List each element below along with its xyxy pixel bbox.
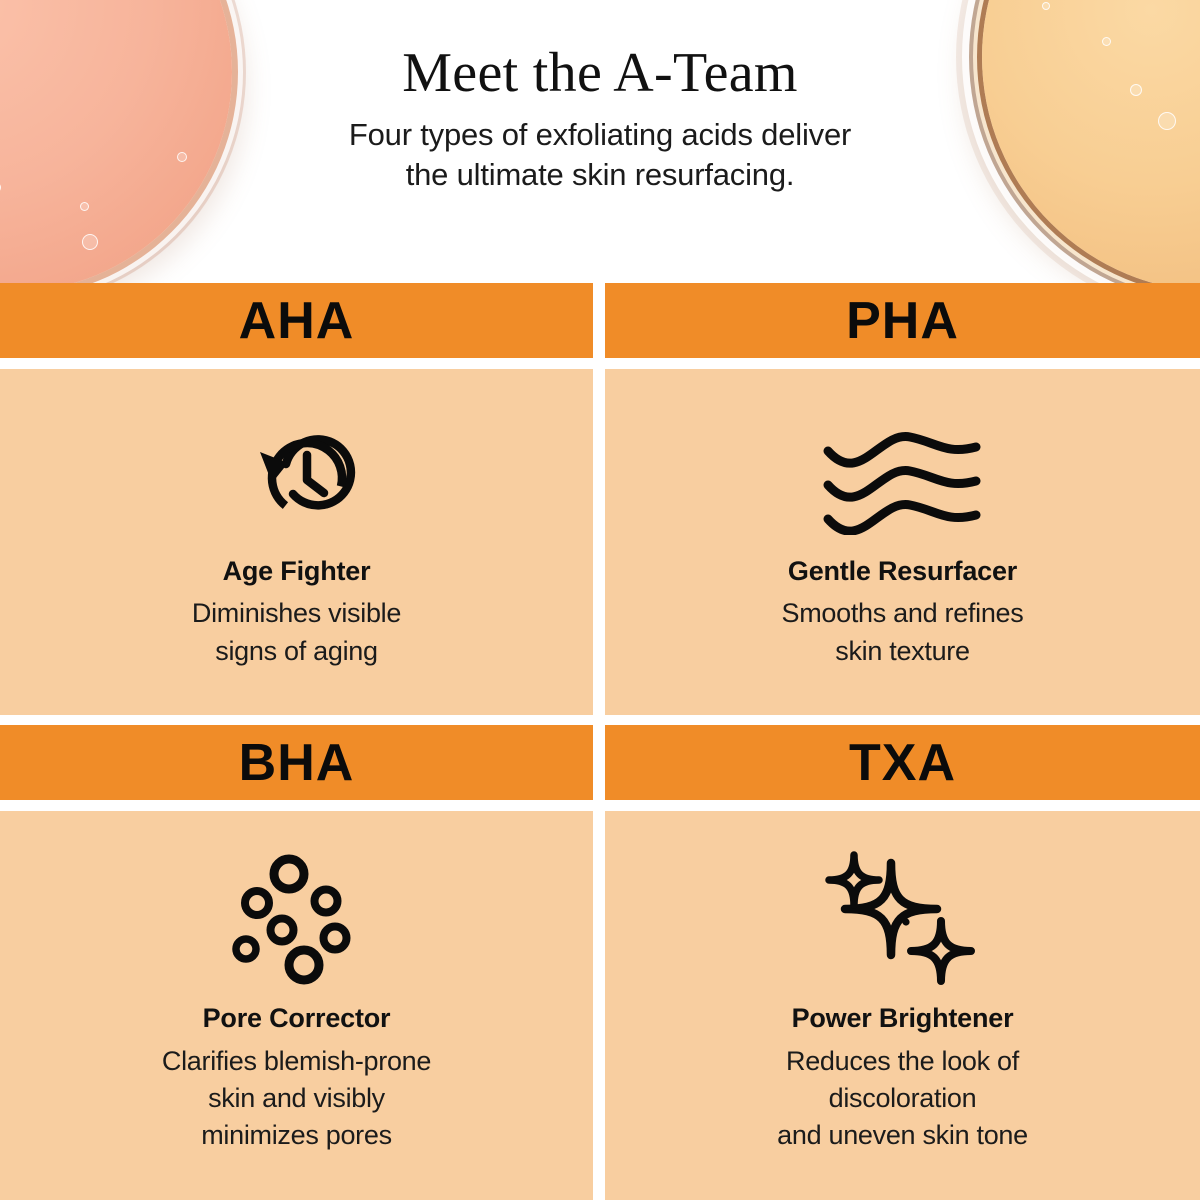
card-title: Age Fighter [223,555,371,587]
card-gap [605,800,1200,811]
page-subtitle: Four types of exfoliating acids deliver … [250,115,950,196]
acid-header-label: AHA [239,295,355,347]
bubble-icon [1102,37,1111,46]
card-description: Smooths and refines skin texture [782,595,1024,670]
pink-gel-petri-dish [0,0,232,292]
acid-header-pha: PHA [605,283,1200,358]
column-gap [593,283,605,715]
acid-header-aha: AHA [0,283,593,358]
bubble-icon [177,152,187,162]
bubble-icon [80,202,89,211]
acid-cell-txa: TXA Power Brightener Reduces the look o [605,725,1200,1200]
card-description: Diminishes visible signs of aging [192,595,401,670]
acid-card-txa: Power Brightener Reduces the look of dis… [605,811,1200,1200]
bubble-icon [1158,112,1176,130]
bubble-icon [82,234,98,250]
bubble-icon [1042,2,1050,10]
header: Meet the A-Team Four types of exfoliatin… [0,0,1200,283]
column-gap [593,725,605,1200]
acid-header-bha: BHA [0,725,593,800]
acid-header-label: BHA [239,737,355,789]
bubble-icon [0,182,1,193]
card-title: Pore Corrector [203,1002,391,1034]
clock-rewind-icon [236,405,358,555]
row-gap [0,715,1200,725]
infographic-canvas: Meet the A-Team Four types of exfoliatin… [0,0,1200,1200]
card-description: Clarifies blemish-prone skin and visibly… [162,1043,431,1155]
pores-circles-icon [222,837,372,1002]
acid-card-aha: Age Fighter Diminishes visible signs of … [0,369,593,715]
acid-card-bha: Pore Corrector Clarifies blemish-prone s… [0,811,593,1200]
card-gap [605,358,1200,369]
acid-cell-aha: AHA Age Fighter Diminishes visible signs… [0,283,593,715]
acid-cell-pha: PHA Gentle Resurfacer Smooths and refine… [605,283,1200,715]
acid-header-label: TXA [849,737,956,789]
card-description: Reduces the look of discoloration and un… [777,1043,1028,1155]
card-title: Power Brightener [792,1002,1014,1034]
wavy-lines-icon [818,405,988,555]
bubble-icon [1130,84,1142,96]
card-gap [0,800,593,811]
acid-grid: AHA Age Fighter Diminishes visible signs… [0,283,1200,1200]
acid-cell-bha: BHA [0,725,593,1200]
card-title: Gentle Resurfacer [788,555,1017,587]
sparkles-icon [823,837,983,1002]
card-gap [0,358,593,369]
pink-dish-glass-halo [0,0,246,306]
page-title: Meet the A-Team [0,0,1200,105]
acid-header-label: PHA [846,295,959,347]
acid-header-txa: TXA [605,725,1200,800]
acid-card-pha: Gentle Resurfacer Smooths and refines sk… [605,369,1200,715]
amber-gel-petri-dish [982,0,1200,292]
